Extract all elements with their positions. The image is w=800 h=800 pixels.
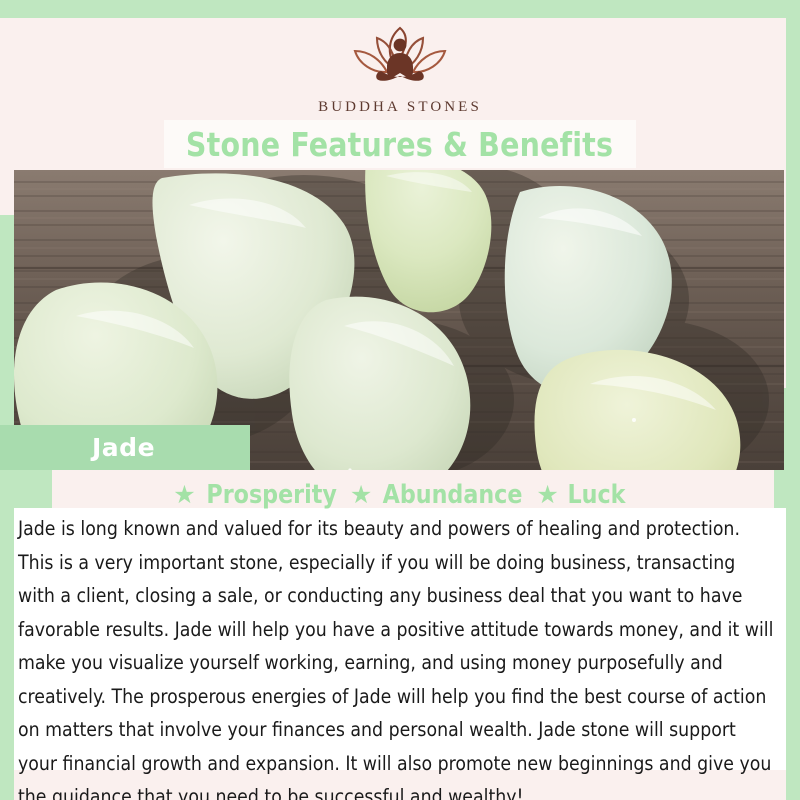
- benefit-item: ★ Luck: [536, 480, 626, 510]
- benefits-row: ★ Prosperity ★ Abundance ★ Luck: [14, 480, 786, 510]
- star-icon: ★: [173, 483, 195, 508]
- brand-logo: BUDDHA STONES: [0, 22, 800, 116]
- benefit-item: ★ Abundance: [350, 480, 527, 510]
- page-title: Stone Features & Benefits: [186, 125, 613, 164]
- star-icon: ★: [536, 483, 558, 508]
- star-icon: ★: [350, 483, 372, 508]
- stone-info-poster: BUDDHA STONES Stone Features & Benefits: [0, 0, 800, 800]
- brand-name: BUDDHA STONES: [0, 99, 800, 116]
- description-text: Jade is long known and valued for its be…: [18, 512, 775, 800]
- stone-name-band: Jade: [0, 425, 250, 470]
- page-title-band: Stone Features & Benefits: [164, 120, 636, 168]
- lotus-meditation-icon: [325, 22, 475, 94]
- benefit-label: Abundance: [383, 480, 523, 510]
- benefit-label: Luck: [567, 480, 625, 510]
- description-block: Jade is long known and valued for its be…: [14, 512, 789, 800]
- benefit-item: ★ Prosperity: [173, 480, 340, 510]
- benefit-label: Prosperity: [206, 480, 336, 510]
- stone-name-label: Jade: [92, 433, 155, 462]
- decor-green-top-band: [0, 0, 800, 18]
